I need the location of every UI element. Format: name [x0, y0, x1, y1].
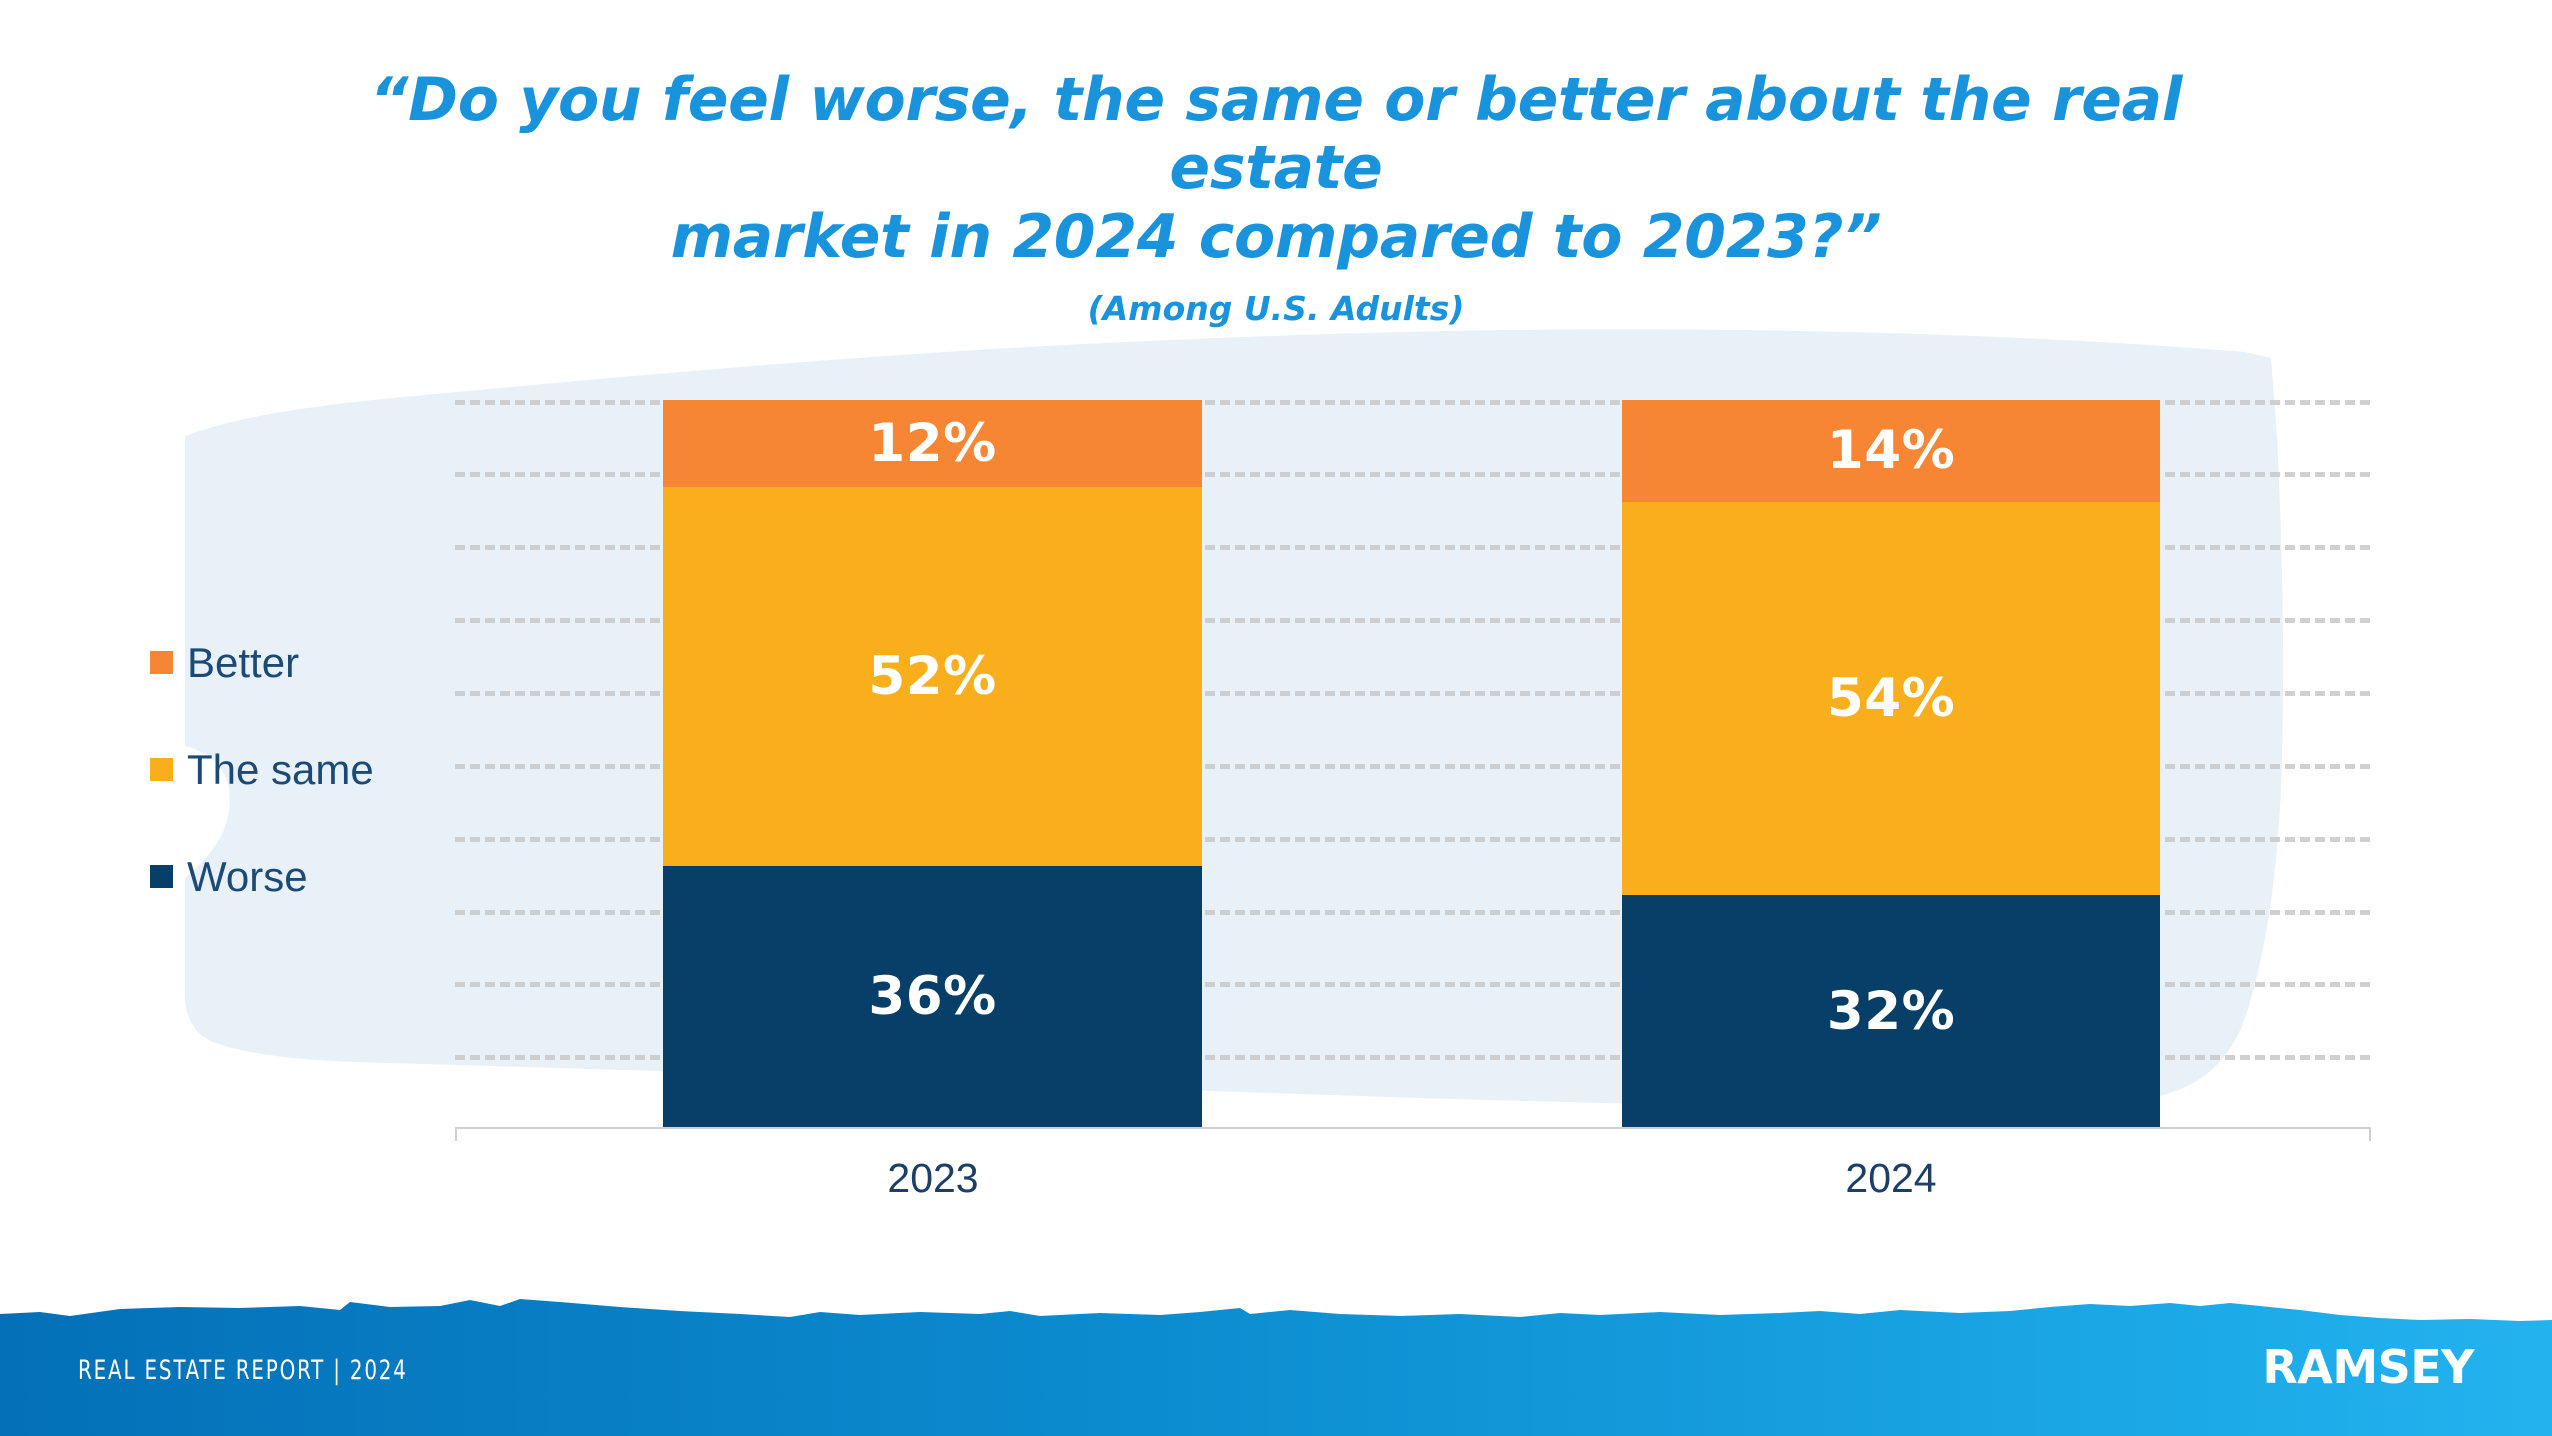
bar-segment-worse-2024[interactable]: 32% — [1622, 895, 2160, 1128]
legend: Better The same Worse — [150, 630, 374, 951]
x-axis-label-2024: 2024 — [1691, 1155, 2091, 1202]
x-axis-line — [455, 1127, 2370, 1129]
bar-segment-better-2023[interactable]: 12% — [663, 400, 1202, 487]
legend-item-the-same[interactable]: The same — [150, 737, 374, 802]
legend-item-worse[interactable]: Worse — [150, 844, 374, 909]
bar-segment-worse-2023[interactable]: 36% — [663, 866, 1202, 1128]
chart-subtitle: (Among U.S. Adults) — [326, 289, 2226, 328]
bar-label-the-same-2023: 52% — [868, 646, 996, 707]
x-axis-tick-start — [455, 1127, 457, 1141]
legend-label-worse: Worse — [187, 856, 308, 898]
footer-report-label: REAL ESTATE REPORT | 2024 — [78, 1355, 408, 1386]
legend-swatch-the-same-icon — [150, 758, 173, 781]
bar-label-worse-2024: 32% — [1827, 981, 1955, 1042]
footer-bar: REAL ESTATE REPORT | 2024 RAMSEY — [0, 1290, 2552, 1436]
plot-area: 12% 52% 36% 14% 54% 32% — [455, 400, 2370, 1128]
bar-group-2023[interactable]: 12% 52% 36% — [663, 400, 1202, 1128]
bar-label-better-2023: 12% — [868, 413, 996, 474]
legend-label-the-same: The same — [187, 749, 374, 791]
legend-swatch-better-icon — [150, 651, 173, 674]
bar-segment-better-2024[interactable]: 14% — [1622, 400, 2160, 502]
bar-label-worse-2023: 36% — [868, 966, 996, 1027]
legend-swatch-worse-icon — [150, 865, 173, 888]
bar-segment-the-same-2024[interactable]: 54% — [1622, 502, 2160, 895]
x-axis-tick-end — [2369, 1127, 2371, 1141]
title-block: “Do you feel worse, the same or better a… — [326, 66, 2226, 328]
brand-logo: RAMSEY — [2262, 1340, 2474, 1394]
legend-label-better: Better — [187, 642, 299, 684]
bar-segment-the-same-2023[interactable]: 52% — [663, 487, 1202, 866]
chart-title: “Do you feel worse, the same or better a… — [326, 66, 2226, 271]
chart-canvas: “Do you feel worse, the same or better a… — [0, 0, 2552, 1436]
bar-label-better-2024: 14% — [1827, 420, 1955, 481]
x-axis-label-2023: 2023 — [733, 1155, 1133, 1202]
bar-label-the-same-2024: 54% — [1827, 668, 1955, 729]
legend-item-better[interactable]: Better — [150, 630, 374, 695]
bar-group-2024[interactable]: 14% 54% 32% — [1622, 400, 2160, 1128]
